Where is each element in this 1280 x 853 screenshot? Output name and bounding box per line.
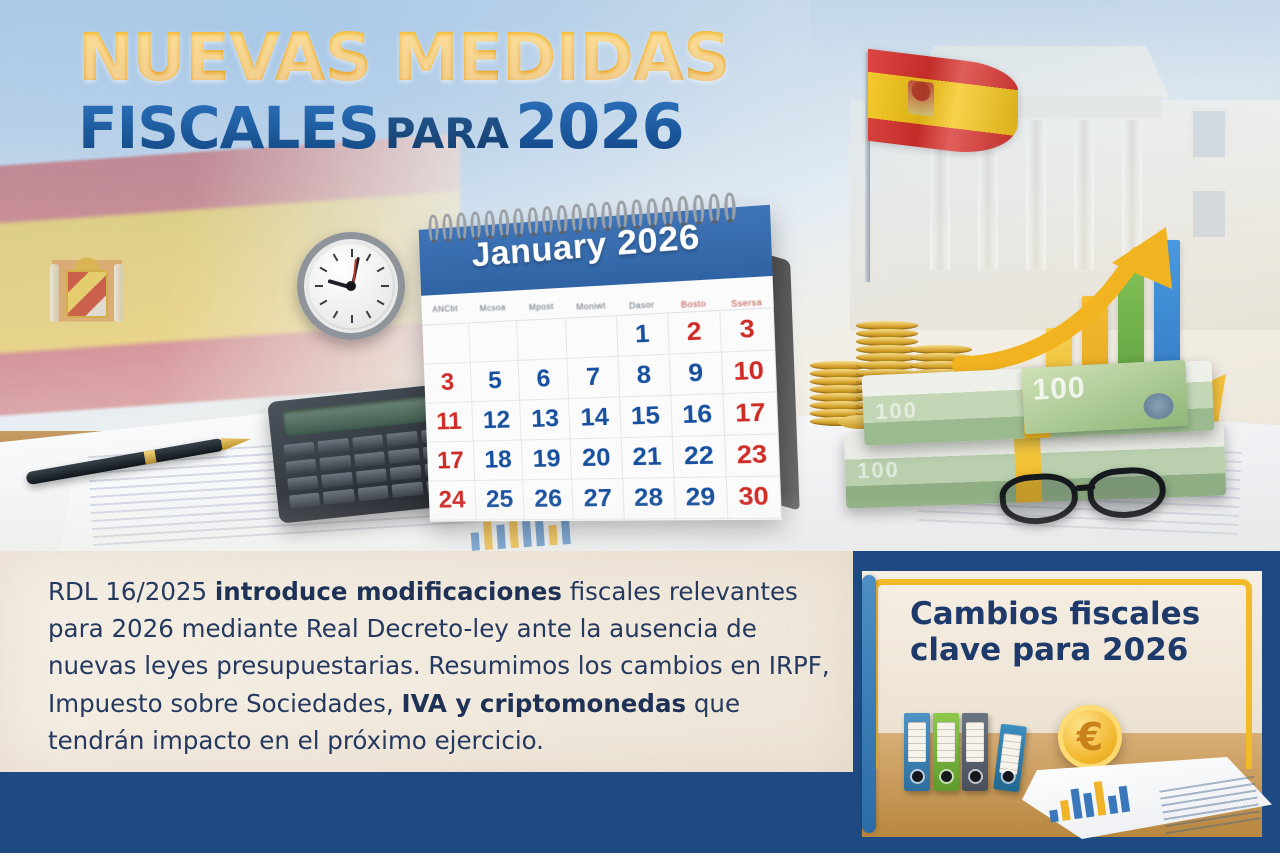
card-chart-bar [1094,781,1107,816]
calendar-day-cell: 17 [723,392,778,435]
calendar-weekday-label: Ssersa [719,286,774,320]
calendar-day-cell: 17 [427,442,476,482]
calendar-weekday-label: Mpost [516,291,566,323]
calendar-day-cell: 13 [520,399,571,440]
banknote-hologram [1143,392,1174,420]
title-line-primary: NUEVAS MEDIDAS [78,26,730,89]
calendar-day-cell: 21 [621,437,674,479]
spanish-coat-of-arms [908,80,934,117]
title-line-secondary: FISCALESPARA2026 [78,97,730,157]
paragraph-text: RDL 16/2025 [48,577,215,606]
calendar-day-cell: 19 [522,439,573,480]
calendar-day-cell: 16 [671,394,725,437]
calendar-day-cell: 23 [725,435,780,478]
title-word-para: PARA [385,109,509,158]
card-chart-bar [1060,800,1071,821]
calendar-empty-cell [517,319,568,361]
banknote-denomination: 100 [857,457,901,484]
calendar-date-grid: 1233567891011121314151617171819202122232… [422,308,782,520]
clock-center-pin [346,281,356,291]
page-title: NUEVAS MEDIDAS FISCALESPARA2026 [78,26,730,157]
spanish-coat-of-arms-large [52,252,122,334]
bottom-section: RDL 16/2025 introduce modificaciones fis… [0,551,1280,853]
calendar-day-cell: 15 [620,396,673,438]
calendar-empty-cell [422,323,471,364]
document-binders [904,709,1023,791]
calendar-weekday-label: Moniwt [565,290,616,323]
title-word-year: 2026 [515,90,684,163]
desk-calendar: January 2026 ANCbtMcsoaMpostMoniwtDasorB… [418,198,782,531]
calendar-day-cell: 10 [722,350,777,394]
key-changes-card: Cambios fiscales clave para 2026 € [862,571,1262,837]
calendar-page: January 2026 ANCbtMcsoaMpostMoniwtDasorB… [419,205,782,522]
hero-bottom-fade [0,491,1280,551]
card-chart-bar [1049,809,1059,822]
calendar-day-cell: 18 [474,440,524,481]
hundred-euro-note: 100 [1021,360,1188,434]
card-chart-bar [1119,786,1131,813]
clock-face [309,244,393,328]
summary-panel: RDL 16/2025 introduce modificaciones fis… [0,551,853,772]
calendar-day-cell: 9 [669,353,723,396]
calendar-day-cell: 22 [673,436,727,478]
paragraph-text: fiscales relevantes para 2026 mediante R… [48,577,830,718]
summary-paragraph: RDL 16/2025 introduce modificaciones fis… [48,573,838,759]
calendar-weekday-label: Mcsoa [468,292,517,324]
desk-clock [297,232,405,340]
card-blue-accent-bar [862,575,876,833]
title-word-fiscales: FISCALES [78,94,379,162]
paragraph-emphasis: IVA y criptomonedas [402,689,687,718]
crest-pillar [114,264,123,322]
infographic-page: 100 100 100 January 2026 [0,0,1280,853]
calendar-day-cell: 8 [618,355,671,398]
binder-gray [962,713,988,791]
banknote-value: 100 [1032,371,1087,408]
calendar-day-cell: 20 [571,438,623,479]
calendar-empty-cell [469,321,519,363]
pen-ring [144,450,157,465]
paragraph-emphasis: introduce modificaciones [215,577,562,606]
calendar-weekday-label: ANCbt [421,293,469,325]
crest-shield [66,270,108,318]
calendar-day-cell: 5 [471,361,521,402]
calendar-day-cell: 3 [424,363,473,404]
building-window [1190,108,1228,160]
card-title-text: Cambios fiscales clave para 2026 [910,597,1240,669]
calendar-weekday-label: Dasor [616,289,668,322]
calendar-weekday-label: Bosto [667,288,721,321]
crest-pillar [50,264,59,322]
binder-blue [904,713,930,791]
card-chart-bar [1083,793,1094,818]
binder-green [933,713,959,791]
calendar-empty-cell [566,316,618,359]
calendar-day-cell: 12 [472,401,522,442]
card-chart-bar [1108,795,1118,814]
calendar-day-cell: 11 [425,402,474,442]
calendar-day-cell: 6 [519,359,570,401]
paragraph-text: que tendrán impacto en el próximo ejerci… [48,689,740,755]
banknote-denomination: 100 [875,397,919,425]
calendar-day-cell: 7 [568,357,620,399]
calendar-day-cell: 14 [570,397,622,439]
hero-image: 100 100 100 January 2026 [0,0,1280,551]
card-chart-bar [1070,788,1082,819]
binder-teal [993,724,1027,793]
euro-coin-icon: € [1058,705,1122,769]
